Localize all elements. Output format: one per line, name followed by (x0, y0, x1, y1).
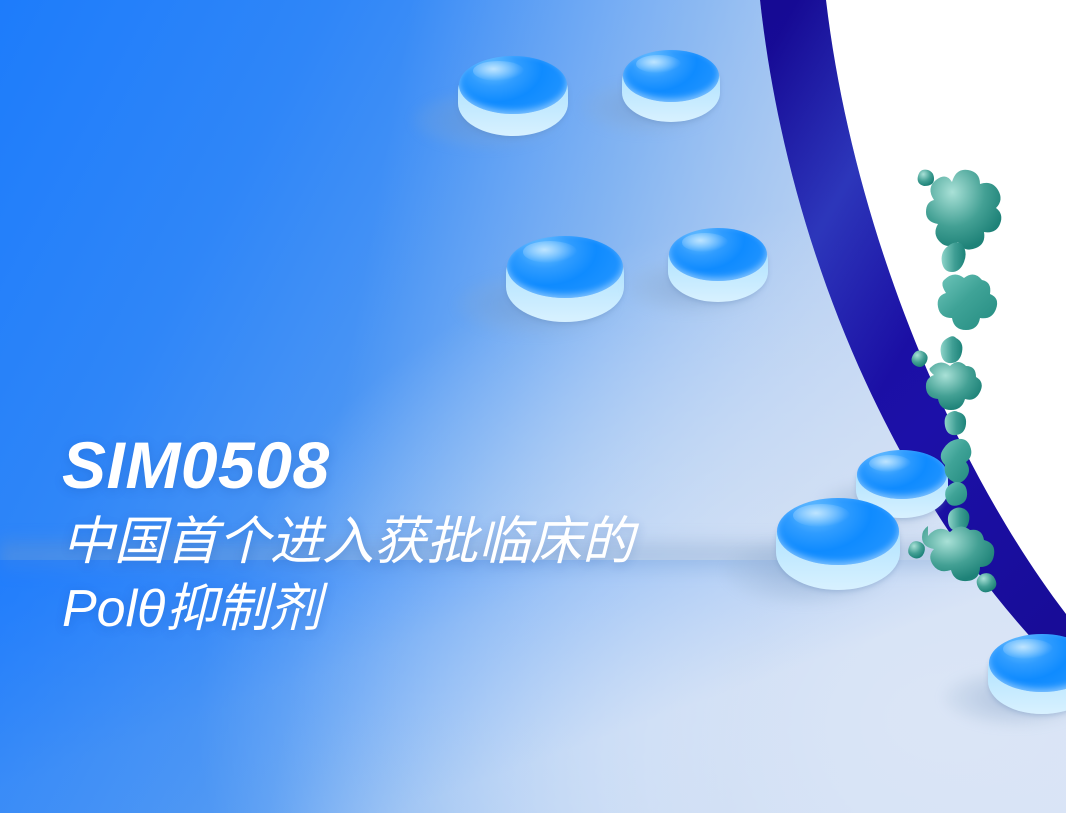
pill-3-highlight (523, 241, 577, 263)
pill-2-highlight (636, 55, 681, 73)
pill-1 (458, 58, 568, 136)
pill-7 (988, 636, 1066, 714)
headline-block: SIM0508 中国首个进入获批临床的 Polθ抑制剂 (62, 432, 634, 642)
slide-canvas: SIM0508 中国首个进入获批临床的 Polθ抑制剂 (0, 0, 1066, 813)
pill-3 (506, 238, 624, 322)
subtitle-line-1: 中国首个进入获批临床的 (62, 509, 634, 576)
subtitle-line-2: Polθ抑制剂 (62, 576, 634, 643)
polymerase-theta-protein-structure (900, 160, 1040, 580)
pill-4 (668, 230, 768, 302)
page-title: SIM0508 (62, 432, 634, 499)
pill-4-highlight (682, 233, 728, 252)
page-subtitle: 中国首个进入获批临床的 Polθ抑制剂 (62, 509, 634, 642)
pill-2 (622, 52, 720, 122)
pill-6-highlight (793, 504, 850, 527)
pill-6 (776, 500, 900, 590)
